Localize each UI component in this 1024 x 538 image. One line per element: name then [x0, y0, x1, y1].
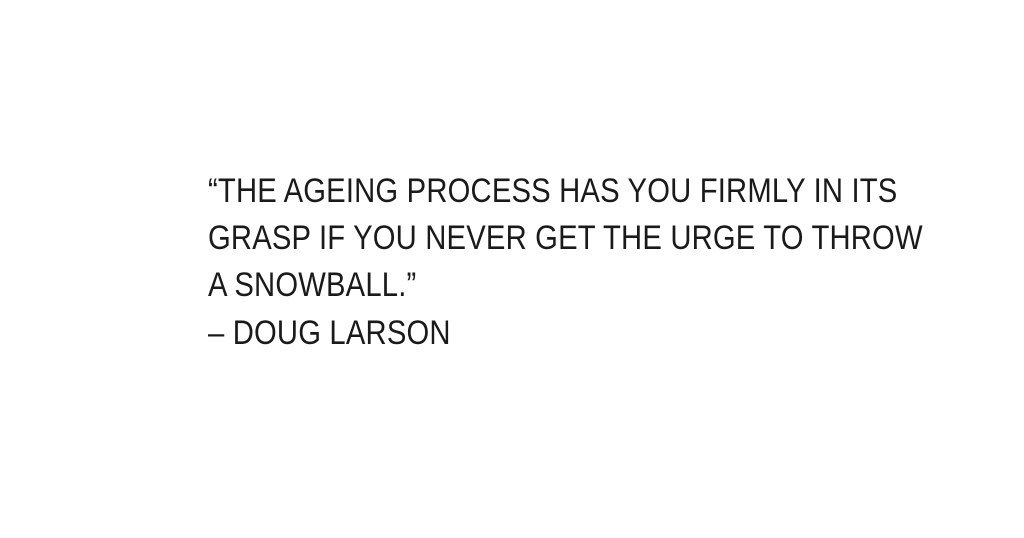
quote-line-3: A SNOWBALL.” — [208, 262, 793, 309]
quote-line-1: “THE AGEING PROCESS HAS YOU FIRMLY IN IT… — [208, 168, 793, 215]
quote-line-2: GRASP IF YOU NEVER GET THE URGE TO THROW — [208, 215, 793, 262]
quote-card: “THE AGEING PROCESS HAS YOU FIRMLY IN IT… — [0, 0, 1024, 538]
quote-text-block: “THE AGEING PROCESS HAS YOU FIRMLY IN IT… — [208, 168, 888, 357]
quote-attribution: – DOUG LARSON — [208, 310, 793, 357]
